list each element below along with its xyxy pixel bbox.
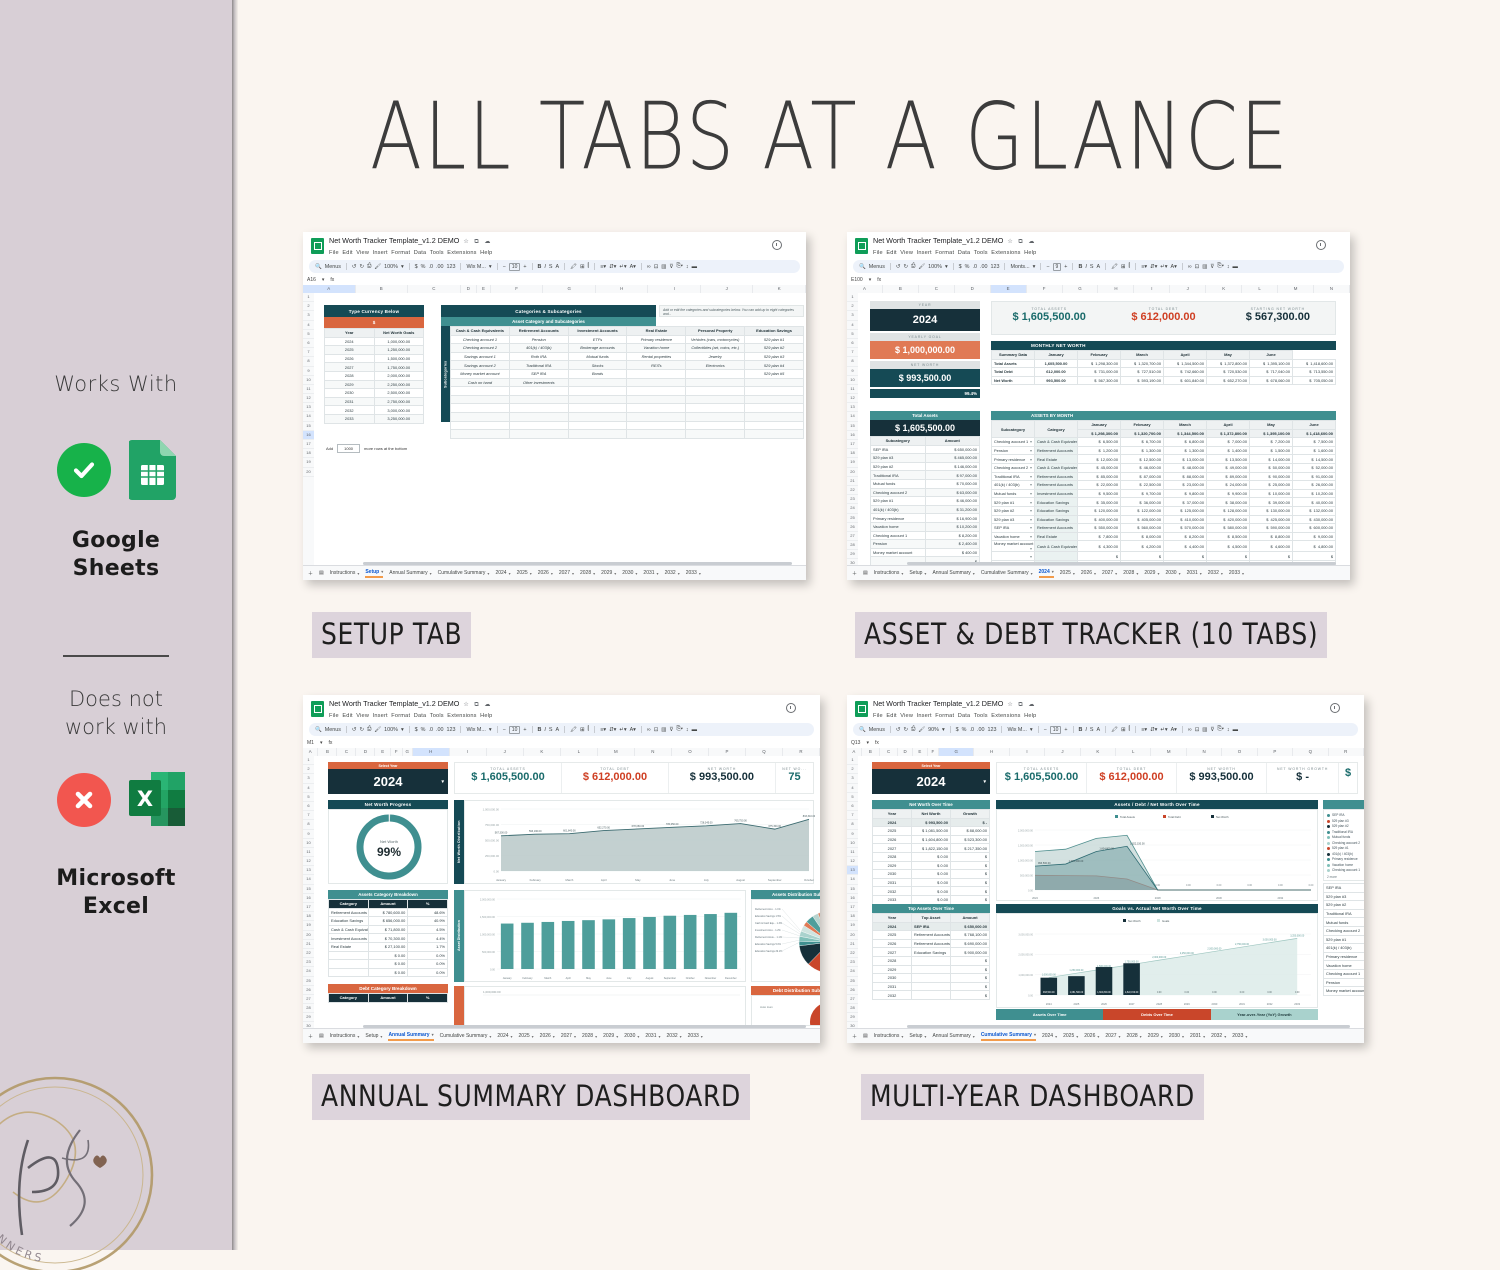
- table-row[interactable]: Primary residence$ 16,900.00: [871, 514, 980, 523]
- table-row[interactable]: 2029$: [873, 965, 990, 974]
- table-row[interactable]: Money market account ▾Cash & Cash Equiva…: [992, 541, 1336, 552]
- table-row[interactable]: SEP IRA: [1324, 884, 1365, 893]
- row-header[interactable]: 26: [847, 986, 858, 995]
- font-family[interactable]: Wix M...: [466, 264, 485, 270]
- font-increase-icon[interactable]: +: [523, 727, 526, 733]
- table-row[interactable]: Checking account 1PensionETFsPrimary res…: [451, 335, 804, 344]
- row-header[interactable]: 2: [303, 765, 314, 774]
- decrease-decimal-icon[interactable]: .0: [972, 264, 977, 270]
- row-header[interactable]: 21: [847, 477, 858, 486]
- filter-icon[interactable]: ⊽: [1210, 727, 1214, 733]
- collapse-toolbar-icon[interactable]: ▬: [1233, 264, 1238, 270]
- sheet-tab[interactable]: 2027▾: [559, 570, 574, 576]
- functions-icon[interactable]: ⎘▾: [1217, 263, 1224, 270]
- cell-reference[interactable]: M1: [307, 740, 314, 746]
- text-rotate-icon[interactable]: A▾: [630, 727, 636, 733]
- table-row[interactable]: 401(k) / 403(b)$ 31,200.00: [871, 505, 980, 514]
- sheet-tab[interactable]: 2029▾: [1144, 570, 1159, 576]
- text-color-icon[interactable]: A: [1097, 727, 1101, 733]
- row-header[interactable]: 26: [847, 523, 858, 532]
- sheet-tab[interactable]: 2033▾: [688, 1033, 703, 1039]
- currency-icon[interactable]: $: [956, 727, 959, 733]
- search-menus-icon[interactable]: 🔍: [859, 727, 866, 733]
- sheet-tab[interactable]: Setup▾: [909, 570, 926, 576]
- row-header[interactable]: 12: [303, 394, 314, 403]
- insert-link-icon[interactable]: ∞: [647, 727, 651, 733]
- row-header[interactable]: 7: [303, 811, 314, 820]
- row-header[interactable]: 29: [847, 550, 858, 559]
- fill-color-icon[interactable]: 🖍: [570, 727, 577, 733]
- table-row[interactable]: Mutual funds: [1324, 918, 1365, 927]
- sheet-canvas[interactable]: Type Currency Below $ YearNet Worth Goal…: [314, 293, 806, 566]
- row-header[interactable]: 15: [847, 885, 858, 894]
- sheet-tab[interactable]: 2024▾: [1042, 1033, 1057, 1039]
- row-header[interactable]: 13: [303, 403, 314, 412]
- table-row[interactable]: Primary residence ▾Real Estate$ 12,000.0…: [992, 455, 1336, 464]
- merge-cells-icon[interactable]: ⫿: [588, 263, 590, 270]
- collapse-toolbar-icon[interactable]: ▬: [692, 264, 697, 270]
- sheet-tab[interactable]: 2033▾: [686, 570, 701, 576]
- increase-decimal-icon[interactable]: .00: [977, 727, 985, 733]
- italic-icon[interactable]: I: [1085, 727, 1087, 733]
- table-row[interactable]: [451, 421, 804, 430]
- borders-icon[interactable]: ⊞: [1121, 264, 1126, 270]
- table-row[interactable]: 2024$ 993,500.00$ -: [873, 818, 990, 827]
- row-header[interactable]: 17: [303, 903, 314, 912]
- debt-category-breakdown-table[interactable]: CategoryAmount%: [328, 993, 448, 1003]
- row-header[interactable]: 17: [847, 903, 858, 912]
- undo-icon[interactable]: ↺: [896, 264, 901, 270]
- table-row[interactable]: Savings account 1Roth IRAMutual fundsRen…: [451, 352, 804, 361]
- font-increase-icon[interactable]: +: [1064, 727, 1067, 733]
- table-row[interactable]: Vacation home$ 10,200.00: [871, 522, 980, 531]
- undo-icon[interactable]: ↺: [352, 264, 357, 270]
- row-header[interactable]: 5: [303, 793, 314, 802]
- menu-bar[interactable]: File Edit View Insert Format Data Tools …: [873, 712, 1037, 721]
- row-header[interactable]: 12: [847, 857, 858, 866]
- table-row[interactable]: Pension ▾Retirement Accounts$ 1,200.00$ …: [992, 446, 1336, 455]
- add-rows-input[interactable]: 1000: [337, 444, 360, 453]
- row-header[interactable]: 6: [847, 339, 858, 348]
- collapse-toolbar-icon[interactable]: ▬: [692, 727, 697, 733]
- row-header[interactable]: 8: [303, 820, 314, 829]
- horizontal-align-icon[interactable]: ≡▾: [600, 727, 606, 733]
- table-row[interactable]: [451, 395, 804, 404]
- percent-icon[interactable]: %: [965, 264, 970, 270]
- insert-chart-icon[interactable]: ▥: [1202, 727, 1207, 733]
- row-header[interactable]: 22: [303, 949, 314, 958]
- table-row[interactable]: Retirement Accounts$ 780,600.0048.6%: [329, 908, 448, 917]
- row-header[interactable]: 19: [303, 921, 314, 930]
- row-header[interactable]: 16: [847, 894, 858, 903]
- sheet-tab[interactable]: 2031▾: [645, 1033, 660, 1039]
- font-family[interactable]: Monts...: [1010, 264, 1029, 270]
- table-row[interactable]: 2029$ 0.00$: [873, 861, 990, 870]
- sheet-tab[interactable]: 2025▾: [517, 570, 532, 576]
- table-row[interactable]: 20282,000,000.00: [325, 371, 424, 380]
- text-rotate-icon[interactable]: A▾: [630, 264, 636, 270]
- row-header[interactable]: 24: [303, 967, 314, 976]
- assets-by-month-table[interactable]: SubcategoryCategoryJanuaryFebruaryMarchA…: [991, 420, 1336, 566]
- percent-icon[interactable]: %: [962, 727, 967, 733]
- table-row[interactable]: 529 plan #1$ 46,000.00: [871, 497, 980, 506]
- horizontal-align-icon[interactable]: ≡▾: [600, 264, 606, 270]
- sheet-tab[interactable]: 2031▾: [1190, 1033, 1205, 1039]
- functions-icon[interactable]: ⎘▾: [1217, 726, 1224, 733]
- sheet-tab[interactable]: 2033▾: [1232, 1033, 1247, 1039]
- row-header[interactable]: 21: [303, 940, 314, 949]
- table-row[interactable]: Education Savings$ 656,000.0040.9%: [329, 917, 448, 926]
- sheet-tab[interactable]: 2025▾: [519, 1033, 534, 1039]
- sheet-tab[interactable]: Instructions▾: [874, 1033, 904, 1039]
- menu-bar[interactable]: File Edit View Insert Format Data Tools …: [329, 249, 493, 258]
- row-header[interactable]: 2: [847, 302, 858, 311]
- menu-bar[interactable]: File Edit View Insert Format Data Tools …: [873, 249, 1037, 258]
- sheet-tabs-1[interactable]: Instructions▾Setup▾Annual Summary▾Cumula…: [330, 569, 707, 578]
- sheet-tab[interactable]: Setup▾: [365, 569, 383, 578]
- filter-icon[interactable]: ⊽: [669, 264, 673, 270]
- table-row[interactable]: 401(k) / 403(b): [1324, 944, 1365, 953]
- table-row[interactable]: 2025Retirement Accounts$ 768,100.00: [873, 931, 990, 940]
- row-header[interactable]: 24: [847, 967, 858, 976]
- menu-bar[interactable]: File Edit View Insert Format Data Tools …: [329, 712, 493, 721]
- row-header[interactable]: 11: [847, 848, 858, 857]
- row-header[interactable]: 2: [847, 765, 858, 774]
- strikethrough-icon[interactable]: S: [1090, 727, 1094, 733]
- zoom-caret-icon[interactable]: ▾: [401, 264, 404, 270]
- version-history-icon[interactable]: [772, 240, 782, 250]
- row-header[interactable]: 20: [303, 931, 314, 940]
- sheet-tab[interactable]: 2032▾: [1211, 1033, 1226, 1039]
- table-row[interactable]: [451, 430, 804, 439]
- sheet-tab[interactable]: Instructions▾: [330, 1033, 360, 1039]
- row-header[interactable]: 23: [847, 958, 858, 967]
- functions-icon[interactable]: ⎘▾: [676, 726, 683, 733]
- all-sheets-icon[interactable]: ▤: [319, 570, 324, 576]
- name-box-caret-icon[interactable]: ▾: [866, 740, 869, 746]
- row-header[interactable]: 1: [847, 756, 858, 765]
- table-row[interactable]: 2032$: [873, 991, 990, 1000]
- row-header[interactable]: 17: [303, 440, 314, 449]
- chevron-down-icon[interactable]: ▾: [441, 779, 444, 785]
- version-history-icon[interactable]: [1316, 240, 1326, 250]
- sheet-tab[interactable]: Instructions▾: [874, 570, 904, 576]
- table-row[interactable]: Mutual funds$ 70,000.00: [871, 479, 980, 488]
- table-row[interactable]: 529 plan #3$ 465,000.00: [871, 454, 980, 463]
- add-sheet-icon[interactable]: ＋: [308, 570, 313, 577]
- print-icon[interactable]: ⎙: [367, 263, 371, 270]
- text-wrap-icon[interactable]: ↵▾: [619, 264, 626, 270]
- table-row[interactable]: 401(k) / 403(b) ▾Retirement Accounts$ 22…: [992, 481, 1336, 490]
- table-row[interactable]: Vacation home ▾Real Estate$ 7,800.00$ 8,…: [992, 532, 1336, 541]
- assets-category-breakdown-table[interactable]: CategoryAmount%Retirement Accounts$ 780,…: [328, 899, 448, 977]
- table-row[interactable]: Vacation home: [1324, 961, 1365, 970]
- filter-icon[interactable]: ⊽: [669, 727, 673, 733]
- row-header[interactable]: 14: [303, 875, 314, 884]
- sheet-toolbar[interactable]: 🔍 Menus ↺↻ ⎙🖌 100%▾ $% .0.00 123 Monts..…: [853, 260, 1344, 273]
- table-row[interactable]: 2031$ 0.00$: [873, 878, 990, 887]
- text-wrap-icon[interactable]: ↵▾: [1160, 727, 1167, 733]
- paint-format-icon[interactable]: 🖌: [918, 727, 925, 733]
- row-header[interactable]: 29: [847, 1013, 858, 1022]
- sheet-tab[interactable]: 2027▾: [1105, 1033, 1120, 1039]
- search-menus-icon[interactable]: 🔍: [859, 264, 866, 270]
- doc-title[interactable]: Net Worth Tracker Template_v1.2 DEMO☆ ⧉ …: [329, 236, 493, 247]
- year-value[interactable]: 2024: [870, 309, 980, 331]
- sheet-tab[interactable]: Setup▾: [909, 1033, 926, 1039]
- sheet-tab[interactable]: 2028▾: [1123, 570, 1138, 576]
- row-header[interactable]: 28: [303, 1004, 314, 1013]
- name-box-caret-icon[interactable]: ▾: [869, 277, 872, 283]
- sheet-tab[interactable]: 2025▾: [1063, 1033, 1078, 1039]
- percent-icon[interactable]: %: [421, 727, 426, 733]
- more-formats-icon[interactable]: 123: [990, 264, 999, 270]
- select-year-dropdown[interactable]: 2024▾: [872, 769, 990, 794]
- sheet-tab[interactable]: 2027▾: [1102, 570, 1117, 576]
- merge-cells-icon[interactable]: ⫿: [1128, 263, 1130, 270]
- sheet-tab[interactable]: 2032▾: [667, 1033, 682, 1039]
- table-row[interactable]: Mutual funds ▾Investment Accounts$ 9,500…: [992, 489, 1336, 498]
- table-row[interactable]: Checking account 1 ▾Cash & Cash Equivale…: [992, 438, 1336, 447]
- row-header[interactable]: 12: [303, 857, 314, 866]
- row-header[interactable]: 6: [303, 339, 314, 348]
- vertical-align-icon[interactable]: ⇵▾: [609, 264, 616, 270]
- sheet-tab-bar[interactable]: ＋ ▤ Instructions▾Setup▾Annual Summary▾Cu…: [847, 565, 1350, 580]
- increase-decimal-icon[interactable]: .00: [436, 727, 444, 733]
- add-sheet-icon[interactable]: ＋: [852, 1033, 857, 1040]
- table-row[interactable]: Total Debt612,000.00$ 731,000.00$ 727,51…: [992, 368, 1336, 377]
- font-increase-icon[interactable]: +: [1064, 264, 1067, 270]
- doc-title[interactable]: Net Worth Tracker Template_v1.2 DEMO☆ ⧉ …: [873, 699, 1037, 710]
- sheet-tab[interactable]: Cumulative Summary▾: [438, 570, 490, 576]
- row-header[interactable]: 4: [847, 321, 858, 330]
- row-header[interactable]: 17: [847, 440, 858, 449]
- font-family[interactable]: Wix M...: [1007, 727, 1026, 733]
- table-row[interactable]: 529 plan #2$ 146,000.00: [871, 462, 980, 471]
- row-header[interactable]: 6: [847, 802, 858, 811]
- sheet-tab[interactable]: 2024▾: [495, 570, 510, 576]
- row-header[interactable]: 14: [847, 412, 858, 421]
- borders-icon[interactable]: ⊞: [580, 264, 585, 270]
- sheet-tab[interactable]: 2026▾: [540, 1033, 555, 1039]
- doc-action-icons[interactable]: ☆ ⧉ ☁: [1007, 238, 1036, 247]
- table-row[interactable]: 20312,750,000.00: [325, 397, 424, 406]
- row-header[interactable]: 4: [303, 784, 314, 793]
- net-worth-over-time-table[interactable]: YearNet WorthGrowth2024$ 993,500.00$ -20…: [872, 809, 990, 905]
- row-header[interactable]: 19: [847, 921, 858, 930]
- table-row[interactable]: ▾$$$$$$: [992, 552, 1336, 561]
- version-history-icon[interactable]: [786, 703, 796, 713]
- font-decrease-icon[interactable]: −: [1044, 727, 1047, 733]
- row-header[interactable]: 8: [303, 357, 314, 366]
- row-header[interactable]: 3: [303, 774, 314, 783]
- paint-format-icon[interactable]: 🖌: [374, 264, 381, 270]
- name-box-caret-icon[interactable]: ▾: [322, 277, 325, 283]
- search-menus-icon[interactable]: 🔍: [315, 264, 322, 270]
- table-row[interactable]: Investment Accounts$ 70,300.004.4%: [329, 934, 448, 943]
- sheet-toolbar[interactable]: 🔍 Menus ↺↻ ⎙🖌 90%▾ $% .0.00 123 Wix M...…: [853, 723, 1358, 736]
- table-row[interactable]: [451, 404, 804, 413]
- bold-icon[interactable]: B: [1079, 727, 1083, 733]
- select-year-dropdown[interactable]: 2024▾: [328, 769, 448, 794]
- percent-icon[interactable]: %: [421, 264, 426, 270]
- borders-icon[interactable]: ⊞: [1121, 727, 1126, 733]
- insert-comment-icon[interactable]: ⊡: [1195, 264, 1200, 270]
- table-row[interactable]: 2026Retirement Accounts$ 690,000.00: [873, 939, 990, 948]
- sheet-tab[interactable]: Cumulative Summary▾: [981, 570, 1033, 576]
- table-row[interactable]: SEP IRA$ 650,000.00: [871, 445, 980, 454]
- doc-title[interactable]: Net Worth Tracker Template_v1.2 DEMO☆ ⧉ …: [329, 699, 493, 710]
- text-rotate-icon[interactable]: A▾: [1171, 264, 1177, 270]
- sheet-tab[interactable]: 2033▾: [1229, 570, 1244, 576]
- sheet-tab[interactable]: 2028▾: [580, 570, 595, 576]
- sheet-tab[interactable]: 2027▾: [561, 1033, 576, 1039]
- table-row[interactable]: 2028$ 0.00$: [873, 852, 990, 861]
- row-header[interactable]: 13: [303, 866, 314, 875]
- sheet-tab[interactable]: 2032▾: [1208, 570, 1223, 576]
- sheet-tab[interactable]: 2030▾: [622, 570, 637, 576]
- vertical-align-icon[interactable]: ⇵▾: [1150, 264, 1157, 270]
- print-icon[interactable]: ⎙: [911, 726, 915, 733]
- insert-link-icon[interactable]: ∞: [1188, 727, 1192, 733]
- table-row[interactable]: SEP IRA ▾Retirement Accounts$ 550,000.00…: [992, 524, 1336, 533]
- italic-icon[interactable]: I: [544, 727, 546, 733]
- row-header[interactable]: 16: [847, 431, 858, 440]
- yoy-growth-tab[interactable]: Year-over-Year (YoY) Growth: [1211, 1009, 1318, 1020]
- italic-icon[interactable]: I: [544, 264, 546, 270]
- insert-link-icon[interactable]: ∞: [647, 264, 651, 270]
- sheet-tab[interactable]: Cumulative Summary▾: [440, 1033, 492, 1039]
- row-header[interactable]: 8: [847, 357, 858, 366]
- redo-icon[interactable]: ↻: [359, 264, 364, 270]
- row-header[interactable]: 3: [847, 311, 858, 320]
- doc-action-icons[interactable]: ☆ ⧉ ☁: [463, 701, 492, 710]
- row-header[interactable]: 25: [847, 514, 858, 523]
- sheet-tab[interactable]: 2029▾: [601, 570, 616, 576]
- table-row[interactable]: [451, 387, 804, 396]
- table-row[interactable]: 529 plan #2: [1324, 901, 1365, 910]
- table-row[interactable]: 2031$: [873, 982, 990, 991]
- table-row[interactable]: Total Assets1,605,500.00$ 1,298,300.00$ …: [992, 359, 1336, 368]
- table-row[interactable]: Checking account 1$ 8,200.00: [871, 531, 980, 540]
- zoom-caret-icon[interactable]: ▾: [945, 264, 948, 270]
- font-decrease-icon[interactable]: −: [503, 727, 506, 733]
- row-header[interactable]: 1: [847, 293, 858, 302]
- cell-reference[interactable]: A16: [307, 277, 316, 283]
- fill-color-icon[interactable]: 🖍: [570, 264, 577, 270]
- doc-action-icons[interactable]: ☆ ⧉ ☁: [463, 238, 492, 247]
- row-header[interactable]: 1: [303, 756, 314, 765]
- cell-reference[interactable]: E100: [851, 277, 863, 283]
- bold-icon[interactable]: B: [538, 264, 542, 270]
- row-header[interactable]: 18: [847, 912, 858, 921]
- sheet-tab-bar[interactable]: ＋ ▤ Instructions▾Setup▾Annual Summary▾Cu…: [303, 1028, 820, 1043]
- row-header[interactable]: 9: [303, 830, 314, 839]
- more-formats-icon[interactable]: 123: [446, 727, 455, 733]
- row-height-icon[interactable]: ↕: [686, 727, 689, 733]
- table-row[interactable]: 2024SEP IRA$ 650,000.00: [873, 922, 990, 931]
- table-row[interactable]: $ 0.000.0%: [329, 968, 448, 977]
- table-row[interactable]: 20261,500,000.00: [325, 354, 424, 363]
- more-formats-icon[interactable]: 123: [446, 264, 455, 270]
- row-header[interactable]: 28: [847, 1004, 858, 1013]
- sheet-tab[interactable]: 2026▾: [1084, 1033, 1099, 1039]
- sheet-tab[interactable]: Annual Summary▾: [388, 1032, 433, 1041]
- sheet-tab[interactable]: Instructions▾: [330, 570, 360, 576]
- table-row[interactable]: 20333,250,000.00: [325, 414, 424, 423]
- merge-cells-icon[interactable]: ⫿: [1129, 726, 1131, 733]
- table-row[interactable]: 20251,250,000.00: [325, 346, 424, 355]
- horizontal-align-icon[interactable]: ≡▾: [1141, 264, 1147, 270]
- search-menus-icon[interactable]: 🔍: [315, 727, 322, 733]
- sheet-canvas[interactable]: YEAR 2024 YEARLY GOAL $ 1,000,000.00 NET…: [858, 293, 1350, 566]
- font-caret-icon[interactable]: ▾: [489, 264, 492, 270]
- row-header[interactable]: 18: [847, 449, 858, 458]
- row-header[interactable]: 19: [847, 458, 858, 467]
- table-row[interactable]: 529 plan #1: [1324, 935, 1365, 944]
- decrease-decimal-icon[interactable]: .0: [428, 727, 433, 733]
- cell-reference[interactable]: Q13: [851, 740, 860, 746]
- insert-chart-icon[interactable]: ▥: [661, 727, 666, 733]
- sheet-tab[interactable]: 2032▾: [665, 570, 680, 576]
- all-sheets-icon[interactable]: ▤: [863, 570, 868, 576]
- bold-icon[interactable]: B: [538, 727, 542, 733]
- table-row[interactable]: 20323,000,000.00: [325, 406, 424, 415]
- fill-color-icon[interactable]: 🖍: [1111, 264, 1118, 270]
- currency-icon[interactable]: $: [415, 727, 418, 733]
- strikethrough-icon[interactable]: S: [1090, 264, 1094, 270]
- row-header[interactable]: 12: [847, 394, 858, 403]
- row-header[interactable]: 9: [303, 367, 314, 376]
- table-row[interactable]: Savings account 2Traditional IRAStocksRE…: [451, 361, 804, 370]
- sheet-tab[interactable]: 2028▾: [1127, 1033, 1142, 1039]
- table-row[interactable]: Net Worth993,500.00$ 567,300.00$ 593,190…: [992, 376, 1336, 385]
- row-header[interactable]: 6: [303, 802, 314, 811]
- sheet-toolbar[interactable]: 🔍 Menus ↺ ↻ ⎙ 🖌 100% ▾ $ % .0 .00 123 Wi…: [309, 260, 800, 273]
- table-row[interactable]: 529 plan #2 ▾Education Savings$ 120,000.…: [992, 506, 1336, 515]
- zoom-caret-icon[interactable]: ▾: [401, 727, 404, 733]
- row-header[interactable]: 11: [847, 385, 858, 394]
- table-row[interactable]: 2028$: [873, 956, 990, 965]
- doc-title[interactable]: Net Worth Tracker Template_v1.2 DEMO☆ ⧉ …: [873, 236, 1037, 247]
- row-header[interactable]: 23: [847, 495, 858, 504]
- font-caret-icon[interactable]: ▾: [1033, 264, 1036, 270]
- sheet-tab[interactable]: Setup▾: [365, 1033, 382, 1039]
- sheet-tab[interactable]: Annual Summary▾: [389, 570, 431, 576]
- row-header[interactable]: 10: [303, 376, 314, 385]
- font-size[interactable]: 9: [1053, 263, 1062, 271]
- table-row[interactable]: [451, 412, 804, 421]
- sheet-tab[interactable]: 2024▾: [1039, 569, 1054, 578]
- filter-icon[interactable]: ⊽: [1210, 264, 1214, 270]
- table-row[interactable]: 529 plan #3: [1324, 892, 1365, 901]
- row-header[interactable]: 18: [303, 449, 314, 458]
- table-row[interactable]: Pension$ 2,400.00: [871, 540, 980, 549]
- font-decrease-icon[interactable]: −: [503, 264, 506, 270]
- merge-cells-icon[interactable]: ⫿: [588, 726, 590, 733]
- all-sheets-icon[interactable]: ▤: [319, 1033, 324, 1039]
- table-row[interactable]: Money market account: [1324, 987, 1365, 996]
- row-header[interactable]: 25: [303, 977, 314, 986]
- table-row[interactable]: Checking account 2: [1324, 926, 1365, 935]
- debts-over-time-tab[interactable]: Debts Over Time: [1103, 1009, 1210, 1020]
- paint-format-icon[interactable]: 🖌: [374, 727, 381, 733]
- row-header[interactable]: 7: [303, 348, 314, 357]
- zoom-level[interactable]: 100%: [928, 264, 942, 270]
- row-header[interactable]: 20: [847, 931, 858, 940]
- borders-icon[interactable]: ⊞: [580, 727, 585, 733]
- row-header[interactable]: 15: [303, 885, 314, 894]
